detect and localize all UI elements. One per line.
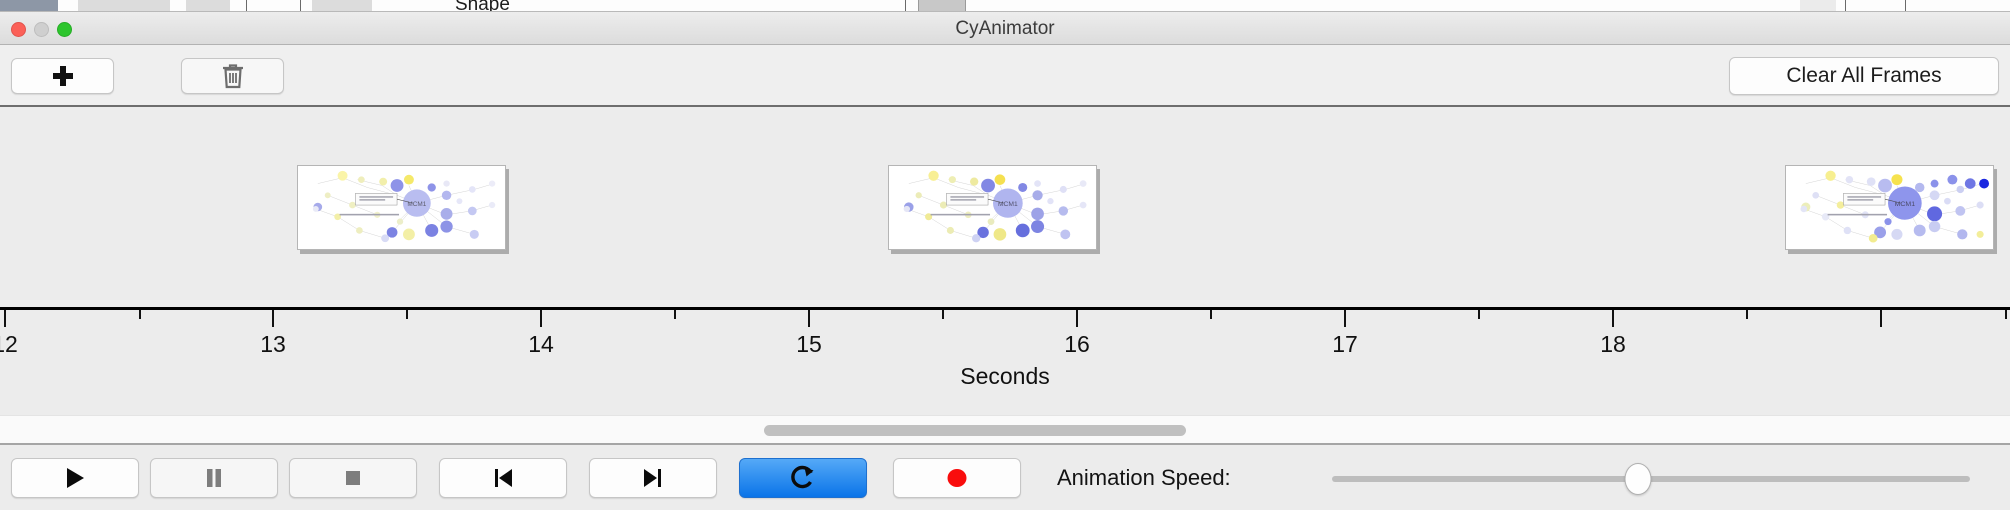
- axis-tick: [808, 310, 810, 327]
- background-window-label: Shape: [455, 0, 510, 12]
- axis-tick: [540, 310, 542, 327]
- axis-tick-label: 12: [0, 331, 18, 358]
- axis-tick: [1612, 310, 1614, 327]
- axis-tick: [1210, 310, 1212, 319]
- frame-thumbnail-3[interactable]: MCM1: [1785, 165, 1994, 250]
- axis-title: Seconds: [0, 363, 2010, 390]
- play-icon: [62, 466, 88, 490]
- timeline-scrollbar[interactable]: [0, 415, 2010, 443]
- axis-tick-label: 13: [260, 331, 286, 358]
- axis-tick: [1076, 310, 1078, 327]
- plus-icon: [53, 66, 73, 86]
- animation-speed-label: Animation Speed:: [1057, 458, 1231, 498]
- bg-divider: [905, 0, 906, 12]
- bg-divider: [300, 0, 301, 12]
- skip-fwd-icon: [640, 466, 666, 490]
- axis-tick: [942, 310, 944, 319]
- loop-button[interactable]: [739, 458, 867, 498]
- delete-frame-button[interactable]: [181, 58, 284, 94]
- bg-chunk: [78, 0, 170, 12]
- animation-speed-thumb[interactable]: [1625, 463, 1652, 495]
- axis-tick: [2005, 310, 2007, 319]
- record-icon: [944, 466, 970, 490]
- axis-tick: [1880, 310, 1882, 327]
- axis-tick-label: 17: [1332, 331, 1358, 358]
- axis-tick: [139, 310, 141, 319]
- frame-thumbnail-2[interactable]: MCM1: [888, 165, 1097, 250]
- timeline-axis[interactable]: 12131415161718 Seconds: [0, 307, 2010, 415]
- trash-icon: [221, 63, 245, 89]
- axis-tick: [272, 310, 274, 327]
- stop-button[interactable]: [289, 458, 417, 498]
- cyanimator-window: Shape CyAnimator Clear All Frame: [0, 0, 2010, 510]
- axis-tick: [406, 310, 408, 319]
- animation-speed-slider[interactable]: [1332, 476, 1970, 482]
- axis-tick-label: 15: [796, 331, 822, 358]
- clear-all-frames-button[interactable]: Clear All Frames: [1729, 57, 1999, 95]
- toolbar: Clear All Frames: [0, 45, 2010, 107]
- axis-tick-label: 16: [1064, 331, 1090, 358]
- skip-start-button[interactable]: [439, 458, 567, 498]
- network-graph-preview: MCM1: [889, 166, 1096, 249]
- add-frame-button[interactable]: [11, 58, 114, 94]
- stop-icon: [341, 466, 365, 490]
- axis-tick: [1478, 310, 1480, 319]
- window-title: CyAnimator: [0, 12, 2010, 45]
- frame-thumbnail-1[interactable]: MCM1: [297, 165, 506, 250]
- bg-divider: [1845, 0, 1846, 12]
- playback-controls: Animation Speed:: [0, 443, 2010, 510]
- record-button[interactable]: [893, 458, 1021, 498]
- scrollbar-thumb[interactable]: [764, 425, 1186, 436]
- bg-tab: [918, 0, 966, 12]
- svg-text:MCM1: MCM1: [998, 201, 1018, 208]
- loop-icon: [789, 465, 817, 491]
- skip-end-button[interactable]: [589, 458, 717, 498]
- network-graph-preview: MCM1: [1786, 166, 1993, 249]
- pause-icon: [202, 466, 226, 490]
- axis-tick: [1746, 310, 1748, 319]
- svg-text:MCM1: MCM1: [1895, 201, 1916, 208]
- network-graph-preview: MCM1: [298, 166, 505, 249]
- bg-chunk: [312, 0, 372, 12]
- clear-all-frames-label: Clear All Frames: [1786, 64, 1941, 88]
- title-bar: CyAnimator: [0, 12, 2010, 45]
- bg-chunk: [0, 0, 58, 12]
- skip-back-icon: [490, 466, 516, 490]
- bg-chunk: [186, 0, 230, 12]
- axis-tick: [4, 310, 6, 327]
- background-window-strip: Shape: [0, 0, 2010, 12]
- axis-tick: [674, 310, 676, 319]
- axis-tick-label: 18: [1600, 331, 1626, 358]
- axis-tick-label: 14: [528, 331, 554, 358]
- bg-divider: [246, 0, 247, 12]
- svg-text:MCM1: MCM1: [407, 201, 426, 208]
- bg-chunk: [1800, 0, 1836, 12]
- pause-button[interactable]: [150, 458, 278, 498]
- play-button[interactable]: [11, 458, 139, 498]
- axis-tick: [1344, 310, 1346, 327]
- bg-divider: [1905, 0, 1906, 12]
- axis-baseline: [0, 307, 2010, 310]
- timeline-canvas[interactable]: MCM1: [0, 109, 2010, 309]
